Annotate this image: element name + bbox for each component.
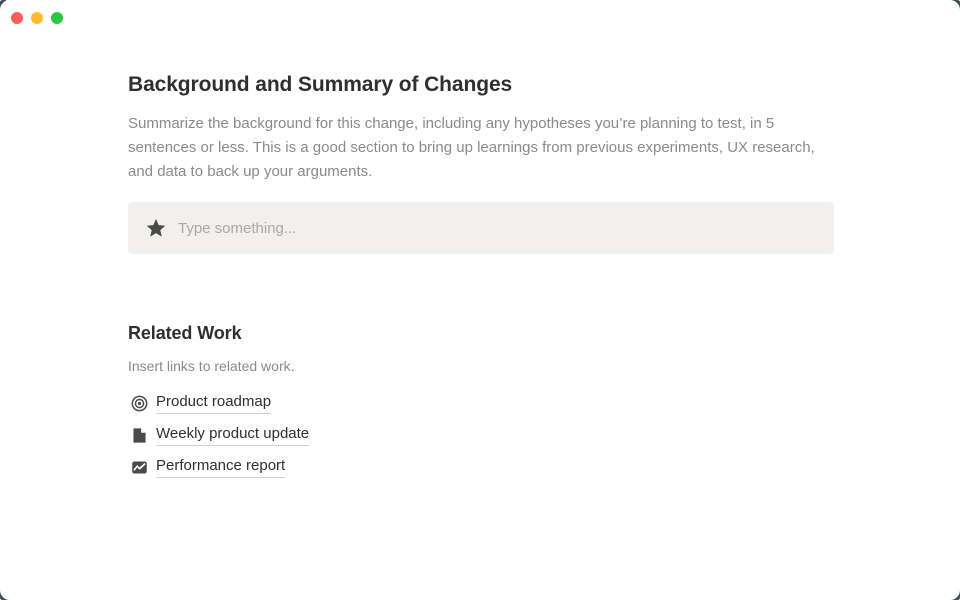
document-body: Background and Summary of Changes Summar… (128, 70, 834, 483)
chart-icon (131, 459, 148, 476)
list-item[interactable]: Weekly product update (128, 419, 834, 451)
star-icon (146, 218, 166, 238)
summary-input[interactable]: Type something... (128, 202, 834, 254)
summary-input-placeholder: Type something... (178, 220, 296, 237)
related-link-label[interactable]: Performance report (156, 456, 285, 478)
frame-mask-left (0, 18, 4, 573)
list-item[interactable]: Performance report (128, 451, 834, 483)
related-work-title: Related Work (128, 320, 834, 346)
window-controls (11, 12, 63, 24)
related-work-list: Product roadmap Weekly product update (128, 387, 834, 483)
frame-mask-top (6, 0, 906, 4)
list-item[interactable]: Product roadmap (128, 387, 834, 419)
document-icon (131, 427, 148, 444)
related-link-label[interactable]: Product roadmap (156, 392, 271, 414)
target-icon (131, 395, 148, 412)
section-description: Summarize the background for this change… (128, 112, 828, 184)
maximize-window-button[interactable] (51, 12, 63, 24)
frame-mask-bottom (16, 596, 946, 600)
related-work-description: Insert links to related work. (128, 356, 834, 376)
app-window: Background and Summary of Changes Summar… (0, 0, 960, 600)
close-window-button[interactable] (11, 12, 23, 24)
page-title: Background and Summary of Changes (128, 70, 834, 100)
frame-mask-right (956, 18, 960, 578)
related-link-label[interactable]: Weekly product update (156, 424, 309, 446)
minimize-window-button[interactable] (31, 12, 43, 24)
related-work-section: Related Work Insert links to related wor… (128, 320, 834, 483)
